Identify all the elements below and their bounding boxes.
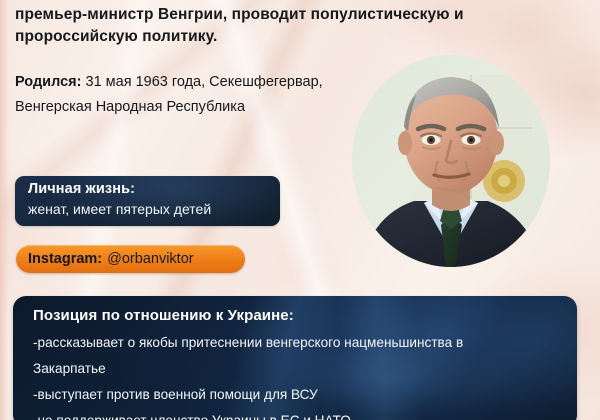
infographic-card: премьер-министр Венгрии, проводит попули… <box>0 0 600 420</box>
ukraine-position-body: -рассказывает о якобы притеснении венгер… <box>33 330 563 420</box>
personal-life-panel: Личная жизнь: женат, имеет пятерых детей <box>15 176 280 226</box>
birth-label: Родился: <box>15 74 81 90</box>
ukraine-position-panel: Позиция по отношению к Украине: -рассказ… <box>13 296 577 420</box>
portrait-photo <box>352 55 550 267</box>
instagram-badge[interactable]: Instagram: @orbanviktor <box>16 245 245 273</box>
personal-life-value: женат, имеет пятерых детей <box>28 201 211 217</box>
ukraine-position-line: -рассказывает о якобы притеснении венгер… <box>33 330 563 356</box>
ukraine-position-line: -выступает против военной помощи для ВСУ <box>33 382 563 408</box>
instagram-label: Instagram: <box>28 251 102 267</box>
headline-text: премьер-министр Венгрии, проводит попули… <box>15 4 515 48</box>
birth-info: Родился: 31 мая 1963 года, Секешфегервар… <box>15 70 345 120</box>
ukraine-position-title: Позиция по отношению к Украине: <box>33 307 294 324</box>
ukraine-position-line: -не поддерживает членство Украины в ЕС и… <box>33 408 563 420</box>
portrait-illustration <box>352 55 550 267</box>
instagram-handle[interactable]: @orbanviktor <box>107 251 193 267</box>
ukraine-position-line: Закарпатье <box>33 356 563 382</box>
personal-life-title: Личная жизнь: <box>28 181 135 197</box>
